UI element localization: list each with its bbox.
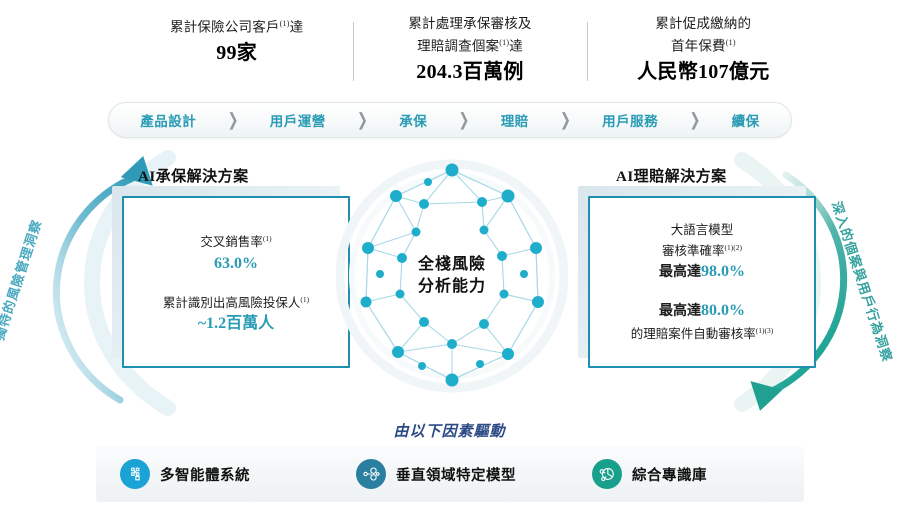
- driver-item-domain-model[interactable]: 垂直領域特定模型: [332, 459, 568, 489]
- side-label-behavior-insight: 深入的個案與用戶行為洞察: [828, 199, 898, 365]
- metric-label-line1: 大語言模型: [659, 221, 745, 239]
- multi-agent-icon: [120, 459, 150, 489]
- stat-value: 99家: [128, 40, 345, 66]
- metric-prefix: 最高達: [659, 265, 701, 280]
- process-flow-bar: 產品設計 ❯ 用戶運營 ❯ 承保 ❯ 理賠 ❯ 用戶服務 ❯ 續保: [108, 102, 792, 138]
- driver-item-multi-agent[interactable]: 多智能體系統: [96, 459, 332, 489]
- stat-label-text: 累計保險公司客戶: [170, 20, 280, 35]
- infographic-root: 累計保險公司客戶(1)達 99家 累計處理承保審核及 理賠調查個案(1)達 20…: [0, 0, 899, 514]
- metric-label: 的理賠案件自動審核率(1)(3): [631, 322, 774, 343]
- metric-footnote: (1)(2): [725, 243, 743, 252]
- metric-footnote: (1)(3): [756, 326, 774, 335]
- chevron-right-icon: ❯: [357, 109, 368, 131]
- stat-value: 人民幣107億元: [595, 59, 812, 85]
- stat-cell-cases: 累計處理承保審核及 理賠調查個案(1)達 204.3百萬例: [353, 14, 586, 85]
- chevron-right-icon: ❯: [560, 109, 571, 131]
- metric-value: 98.0%: [701, 263, 745, 280]
- metric-label: 交叉銷售率(1): [200, 230, 271, 251]
- stat-label-tail: 達: [290, 20, 304, 35]
- metric-label-text: 累計識別出高風險投保人: [163, 296, 301, 310]
- stat-label-tail: 達: [509, 39, 523, 54]
- stat-label: 累計保險公司客戶(1)達: [128, 14, 345, 37]
- process-step-user-service[interactable]: 用戶服務: [602, 110, 658, 130]
- stat-value: 204.3百萬例: [361, 59, 578, 85]
- network-graphic: 全棧風險 分析能力: [336, 152, 568, 400]
- chevron-right-icon: ❯: [459, 109, 470, 131]
- knowledge-base-icon: [592, 459, 622, 489]
- metric-auto-claims-rate: 最高達80.0% 的理賠案件自動審核率(1)(3): [631, 300, 774, 343]
- chevron-right-icon: ❯: [228, 109, 239, 131]
- center-line-1: 全棧風險: [418, 256, 486, 273]
- stat-footnote: (1): [280, 19, 290, 28]
- metric-value: 80.0%: [701, 302, 745, 319]
- metric-value: 63.0%: [200, 253, 271, 274]
- metric-value-row: 最高達80.0%: [631, 300, 774, 322]
- right-arrow-head-icon: [741, 377, 782, 415]
- process-step-underwriting[interactable]: 承保: [399, 110, 427, 130]
- driver-label: 綜合專識庫: [632, 464, 707, 485]
- metric-footnote: (1): [300, 295, 309, 304]
- stat-label: 累計處理承保審核及 理賠調查個案(1)達: [361, 14, 578, 56]
- metric-footnote: (1): [263, 234, 272, 243]
- stat-footnote: (1): [726, 38, 736, 47]
- chevron-right-icon: ❯: [689, 109, 700, 131]
- metric-label: 累計識別出高風險投保人(1): [163, 291, 309, 312]
- stat-label-line1: 累計促成繳納的: [655, 16, 751, 31]
- metric-value-row: 最高達98.0%: [659, 261, 745, 283]
- panel-title-underwriting: AI承保解決方案: [138, 165, 249, 186]
- metric-cross-sell: 交叉銷售率(1) 63.0%: [200, 230, 271, 273]
- drivers-caption: 由以下因素驅動: [0, 420, 899, 441]
- metric-label-line2: 審核準確率(1)(2): [659, 239, 745, 260]
- metric-high-risk-identified: 累計識別出高風險投保人(1) ~1.2百萬人: [163, 291, 309, 334]
- process-step-product-design[interactable]: 產品設計: [140, 110, 196, 130]
- stat-label-line2: 理賠調查個案: [417, 39, 499, 54]
- stat-label-line2: 首年保費: [671, 39, 726, 54]
- metric-label-text: 的理賠案件自動審核率: [631, 327, 756, 341]
- panel-title-claims: AI理賠解決方案: [616, 165, 727, 186]
- metric-label-text: 審核準確率: [662, 245, 725, 259]
- center-line-2: 分析能力: [418, 278, 486, 295]
- domain-model-icon: [356, 459, 386, 489]
- metric-prefix: 最高達: [659, 304, 701, 319]
- metric-label-text: 交叉銷售率: [200, 236, 263, 250]
- metric-llm-review-accuracy: 大語言模型 審核準確率(1)(2) 最高達98.0%: [659, 221, 745, 282]
- process-step-claims[interactable]: 理賠: [501, 110, 529, 130]
- process-step-renewal[interactable]: 續保: [732, 110, 760, 130]
- metric-value: ~1.2百萬人: [163, 313, 309, 334]
- top-stats-row: 累計保險公司客戶(1)達 99家 累計處理承保審核及 理賠調查個案(1)達 20…: [120, 14, 820, 92]
- side-label-risk-insight: 獨特的風險管理洞察: [0, 217, 46, 343]
- driver-label: 垂直領域特定模型: [396, 464, 516, 485]
- stat-cell-premium: 累計促成繳納的 首年保費(1) 人民幣107億元: [587, 14, 820, 85]
- driver-item-knowledge-base[interactable]: 綜合專識庫: [568, 459, 804, 489]
- stat-label: 累計促成繳納的 首年保費(1): [595, 14, 812, 56]
- panel-claims-solution: 大語言模型 審核準確率(1)(2) 最高達98.0% 最高達80.0% 的理賠案…: [588, 196, 816, 368]
- drivers-band: 多智能體系統 垂直領域特定模型: [96, 446, 804, 502]
- stat-footnote: (1): [499, 38, 509, 47]
- process-step-user-operations[interactable]: 用戶運營: [270, 110, 326, 130]
- center-core-label: 全棧風險 分析能力: [336, 254, 568, 298]
- driver-label: 多智能體系統: [160, 464, 250, 485]
- stat-cell-customers: 累計保險公司客戶(1)達 99家: [120, 14, 353, 66]
- panel-underwriting-solution: 交叉銷售率(1) 63.0% 累計識別出高風險投保人(1) ~1.2百萬人: [122, 196, 350, 368]
- stat-label-line1: 累計處理承保審核及: [408, 16, 531, 31]
